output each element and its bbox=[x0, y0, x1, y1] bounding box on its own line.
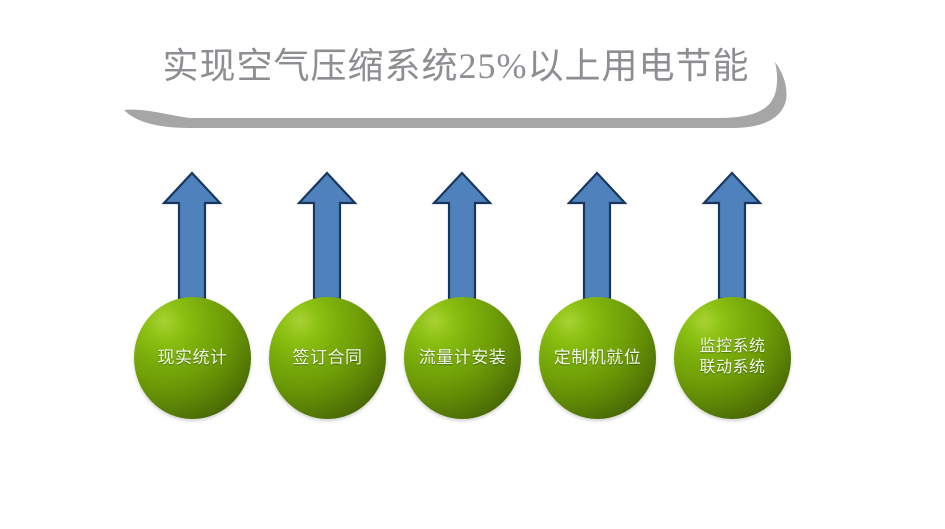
process-node-1-line1: 现实统计 bbox=[158, 348, 228, 367]
process-node-5-label: 监控系统 联动系统 bbox=[699, 337, 765, 379]
arrow-up-2 bbox=[296, 170, 358, 302]
arrow-up-3 bbox=[431, 170, 493, 302]
process-node-5-line1: 监控系统 bbox=[699, 338, 765, 355]
process-node-2-label: 签订合同 bbox=[293, 347, 363, 369]
process-node-4-line1: 定制机就位 bbox=[554, 348, 642, 367]
process-node-1-label: 现实统计 bbox=[158, 347, 228, 369]
arrow-up-1 bbox=[161, 170, 223, 302]
arrow-up-4 bbox=[566, 170, 628, 302]
process-node-2[interactable]: 签订合同 bbox=[269, 297, 386, 419]
arrow-up-5 bbox=[701, 170, 763, 302]
page-title: 实现空气压缩系统25%以上用电节能 bbox=[156, 44, 756, 89]
process-node-5[interactable]: 监控系统 联动系统 bbox=[674, 297, 791, 419]
process-node-4[interactable]: 定制机就位 bbox=[539, 297, 656, 419]
process-node-4-label: 定制机就位 bbox=[554, 347, 642, 369]
process-node-2-line1: 签订合同 bbox=[293, 348, 363, 367]
process-node-3[interactable]: 流量计安装 bbox=[404, 297, 521, 419]
slide-canvas: 实现空气压缩系统25%以上用电节能 现实统计 签订合同 bbox=[0, 0, 945, 529]
process-node-1[interactable]: 现实统计 bbox=[134, 297, 251, 419]
process-node-3-line1: 流量计安装 bbox=[419, 348, 507, 367]
process-node-5-line2: 联动系统 bbox=[699, 358, 765, 379]
title-block: 实现空气压缩系统25%以上用电节能 bbox=[118, 34, 818, 144]
process-node-3-label: 流量计安装 bbox=[419, 347, 507, 369]
